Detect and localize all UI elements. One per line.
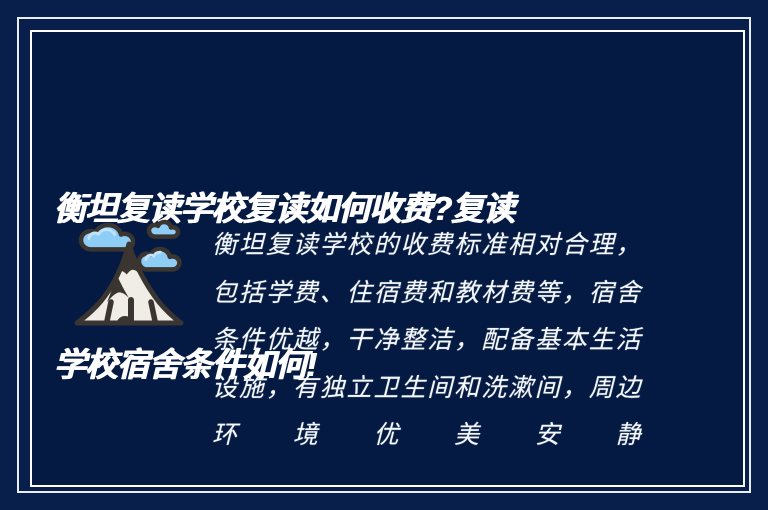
mountain-volcano-icon [67,214,195,334]
poster-card: 衡坦复读学校复读如何收费?复读 学校宿舍条件如何! [0,0,768,510]
cloud-small-top-right [149,222,178,237]
cloud-medium-right [139,249,179,269]
illustration [56,214,206,334]
content-row: 衡坦复读学校的收费标准相对合理，包括学费、住宿费和教材费等，宿舍条件优越，干净整… [32,196,743,485]
cloud-large-left [81,225,133,249]
body-paragraph: 衡坦复读学校的收费标准相对合理，包括学费、住宿费和教材费等，宿舍条件优越，干净整… [212,221,642,506]
